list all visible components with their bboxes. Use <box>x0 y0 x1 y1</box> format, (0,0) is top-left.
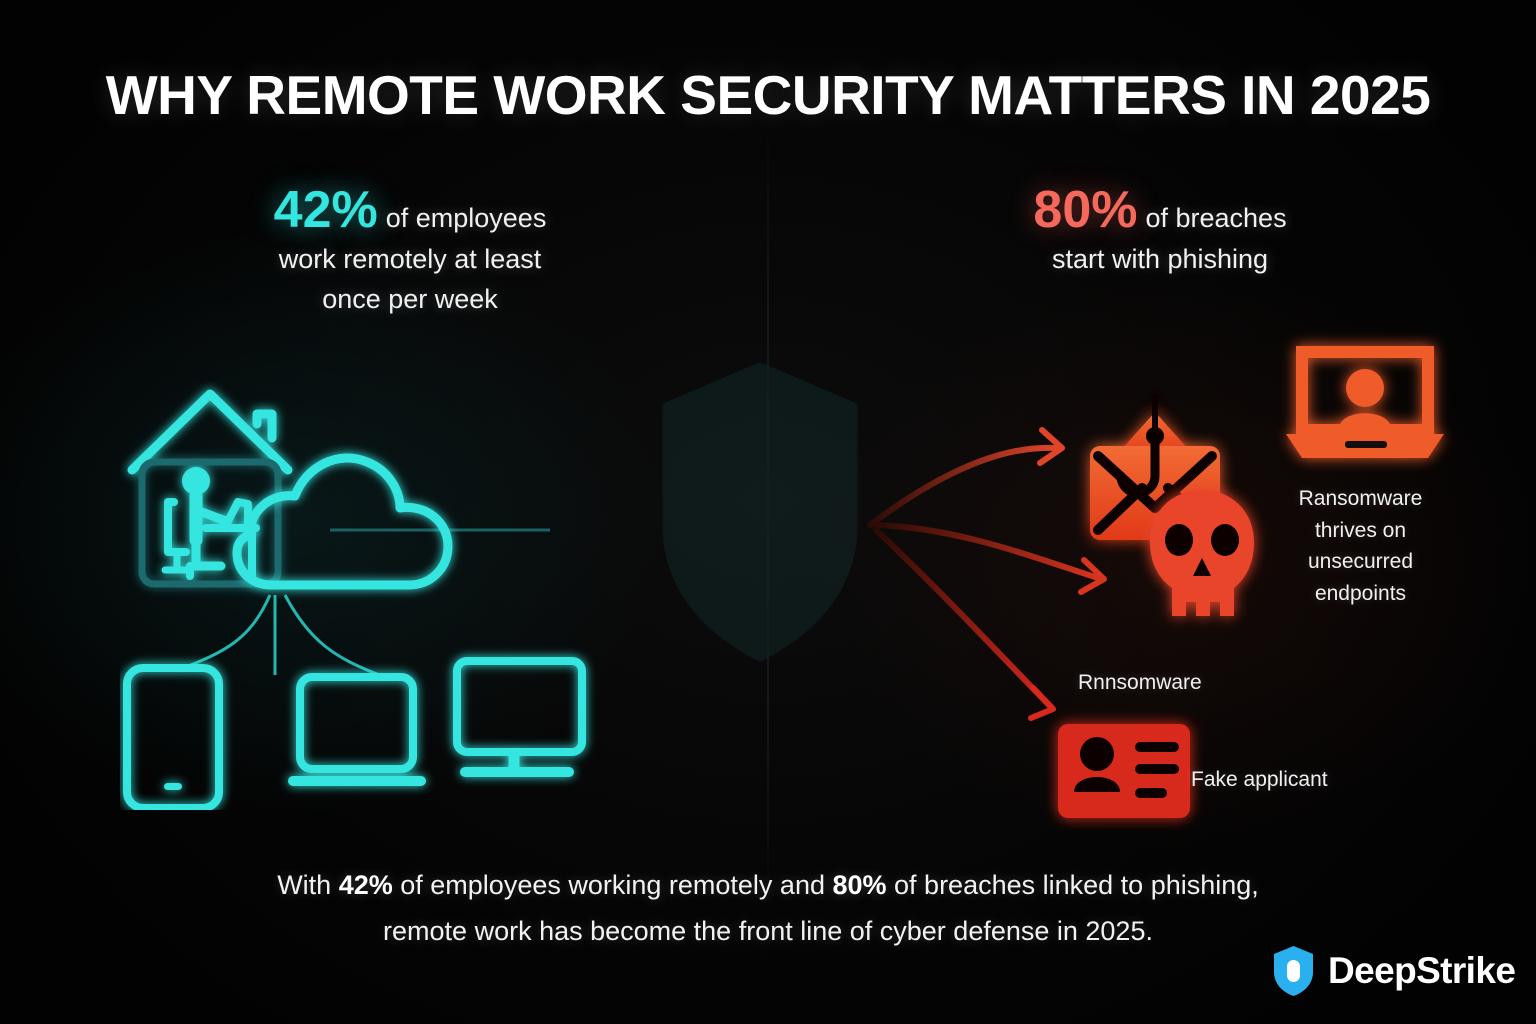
footer-part2: of employees working remotely and <box>393 870 833 900</box>
center-divider <box>767 120 769 910</box>
id-card-icon <box>1058 724 1190 818</box>
stat-value-80: 80% <box>1033 181 1137 239</box>
stat-line3-left: once per week <box>150 280 670 320</box>
shield-icon <box>1272 945 1315 997</box>
smartphone-icon <box>127 668 219 808</box>
stat-block-remote-work: 42%of employees work remotely at least o… <box>150 180 670 320</box>
footer-stat-42: 42% <box>339 870 393 900</box>
logo-text: DeepStrike <box>1328 950 1515 992</box>
skull-icon <box>1150 490 1254 616</box>
threat-arrows <box>870 430 1104 718</box>
stat-lead-right: of breaches <box>1145 203 1286 233</box>
stat-value-42: 42% <box>274 181 378 239</box>
cloud-icon <box>237 458 448 585</box>
stat-headline: 42%of employees <box>150 180 670 240</box>
stat-block-breaches: 80%of breaches start with phishing <box>900 180 1420 280</box>
stat-line2-right: start with phishing <box>900 240 1420 280</box>
infographic-canvas: WHY REMOTE WORK SECURITY MATTERS IN 2025… <box>0 0 1536 1024</box>
desktop-monitor-icon <box>457 661 582 777</box>
label-skull-ransomware: Rnnsomware <box>1078 667 1278 699</box>
footer-stat-80: 80% <box>832 870 886 900</box>
footer-part3: of breaches linked to phishing, <box>887 870 1259 900</box>
page-title: WHY REMOTE WORK SECURITY MATTERS IN 2025 <box>0 63 1536 127</box>
footer-summary: With 42% of employees working remotely a… <box>110 862 1426 955</box>
remote-work-illustration <box>120 380 700 810</box>
label-fake-applicant: Fake applicant <box>1191 764 1411 796</box>
stat-headline-right: 80%of breaches <box>900 180 1420 240</box>
footer-line-1: With 42% of employees working remotely a… <box>110 862 1426 908</box>
stat-lead-left: of employees <box>386 203 547 233</box>
stat-line2-left: work remotely at least <box>150 240 670 280</box>
label-ransomware-endpoints: Ransomware thrives on unsecurred endpoin… <box>1268 483 1453 609</box>
laptop-user-icon <box>1286 352 1444 458</box>
footer-part1: With <box>277 870 339 900</box>
deepstrike-logo[interactable]: DeepStrike <box>1272 945 1515 997</box>
footer-line-2: remote work has become the front line of… <box>110 908 1426 954</box>
laptop-icon <box>288 677 426 786</box>
home-office-icon <box>132 394 288 584</box>
